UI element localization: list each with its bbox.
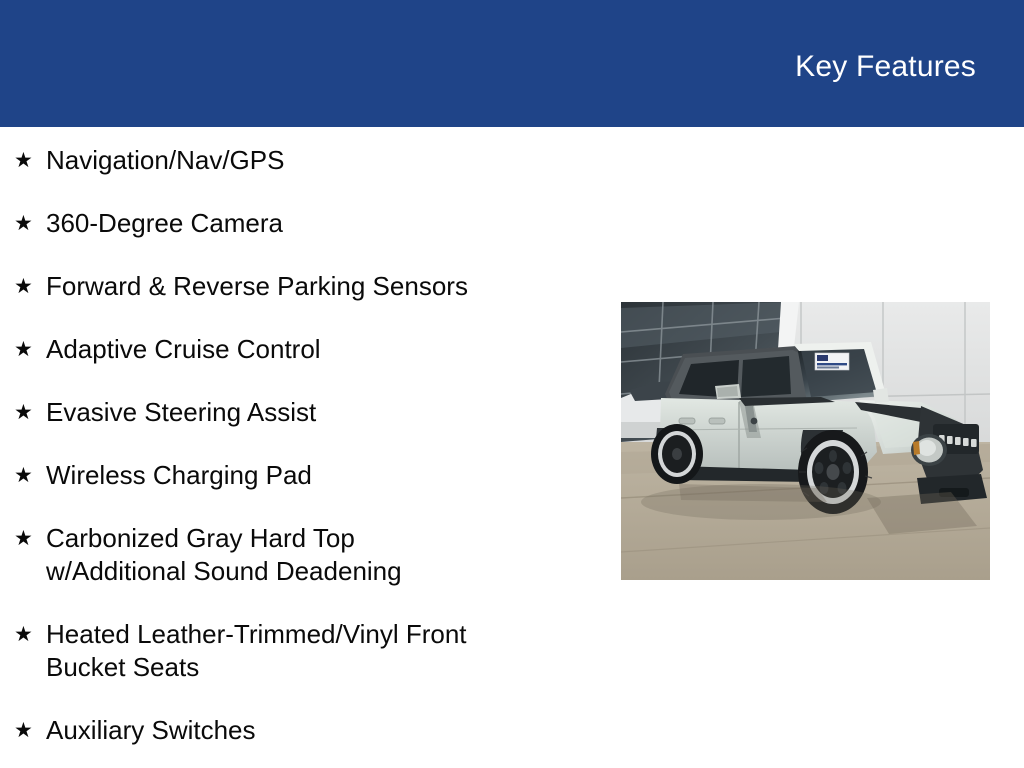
list-item-label: 360-Degree Camera [46,207,600,240]
list-item-label: Evasive Steering Assist [46,396,600,429]
star-bullet-icon: ★ [14,144,46,177]
list-item-label: Auxiliary Switches [46,714,600,747]
list-item: ★ Navigation/Nav/GPS [0,127,600,190]
star-bullet-icon: ★ [14,522,46,555]
list-item-label: Adaptive Cruise Control [46,333,600,366]
vehicle-photo-illustration [621,302,990,580]
list-item: ★ 360-Degree Camera [0,190,600,253]
list-item: ★ Forward & Reverse Parking Sensors [0,253,600,316]
list-item: ★ Carbonized Gray Hard Top w/Additional … [0,505,600,601]
list-item-label: Wireless Charging Pad [46,459,600,492]
list-item-label: Heated Leather-Trimmed/Vinyl Front Bucke… [46,618,600,684]
list-item: ★ Auxiliary Switches [0,697,600,760]
star-bullet-icon: ★ [14,270,46,303]
slide-canvas: Key Features ★ Navigation/Nav/GPS ★ 360-… [0,0,1024,768]
list-item: ★ Wireless Charging Pad [0,442,600,505]
star-bullet-icon: ★ [14,207,46,240]
list-item: ★ Heated Leather-Trimmed/Vinyl Front Buc… [0,601,600,697]
key-features-list: ★ Navigation/Nav/GPS ★ 360-Degree Camera… [0,127,600,760]
star-bullet-icon: ★ [14,714,46,747]
list-item-label: Carbonized Gray Hard Top w/Additional So… [46,522,600,588]
list-item: ★ Adaptive Cruise Control [0,316,600,379]
star-bullet-icon: ★ [14,333,46,366]
star-bullet-icon: ★ [14,618,46,651]
list-item: ★ Evasive Steering Assist [0,379,600,442]
header-band: Key Features [0,0,1024,127]
star-bullet-icon: ★ [14,459,46,492]
vehicle-photo [621,302,990,580]
list-item-label: Forward & Reverse Parking Sensors [46,270,600,303]
page-title: Key Features [795,50,976,84]
star-bullet-icon: ★ [14,396,46,429]
list-item-label: Navigation/Nav/GPS [46,144,600,177]
